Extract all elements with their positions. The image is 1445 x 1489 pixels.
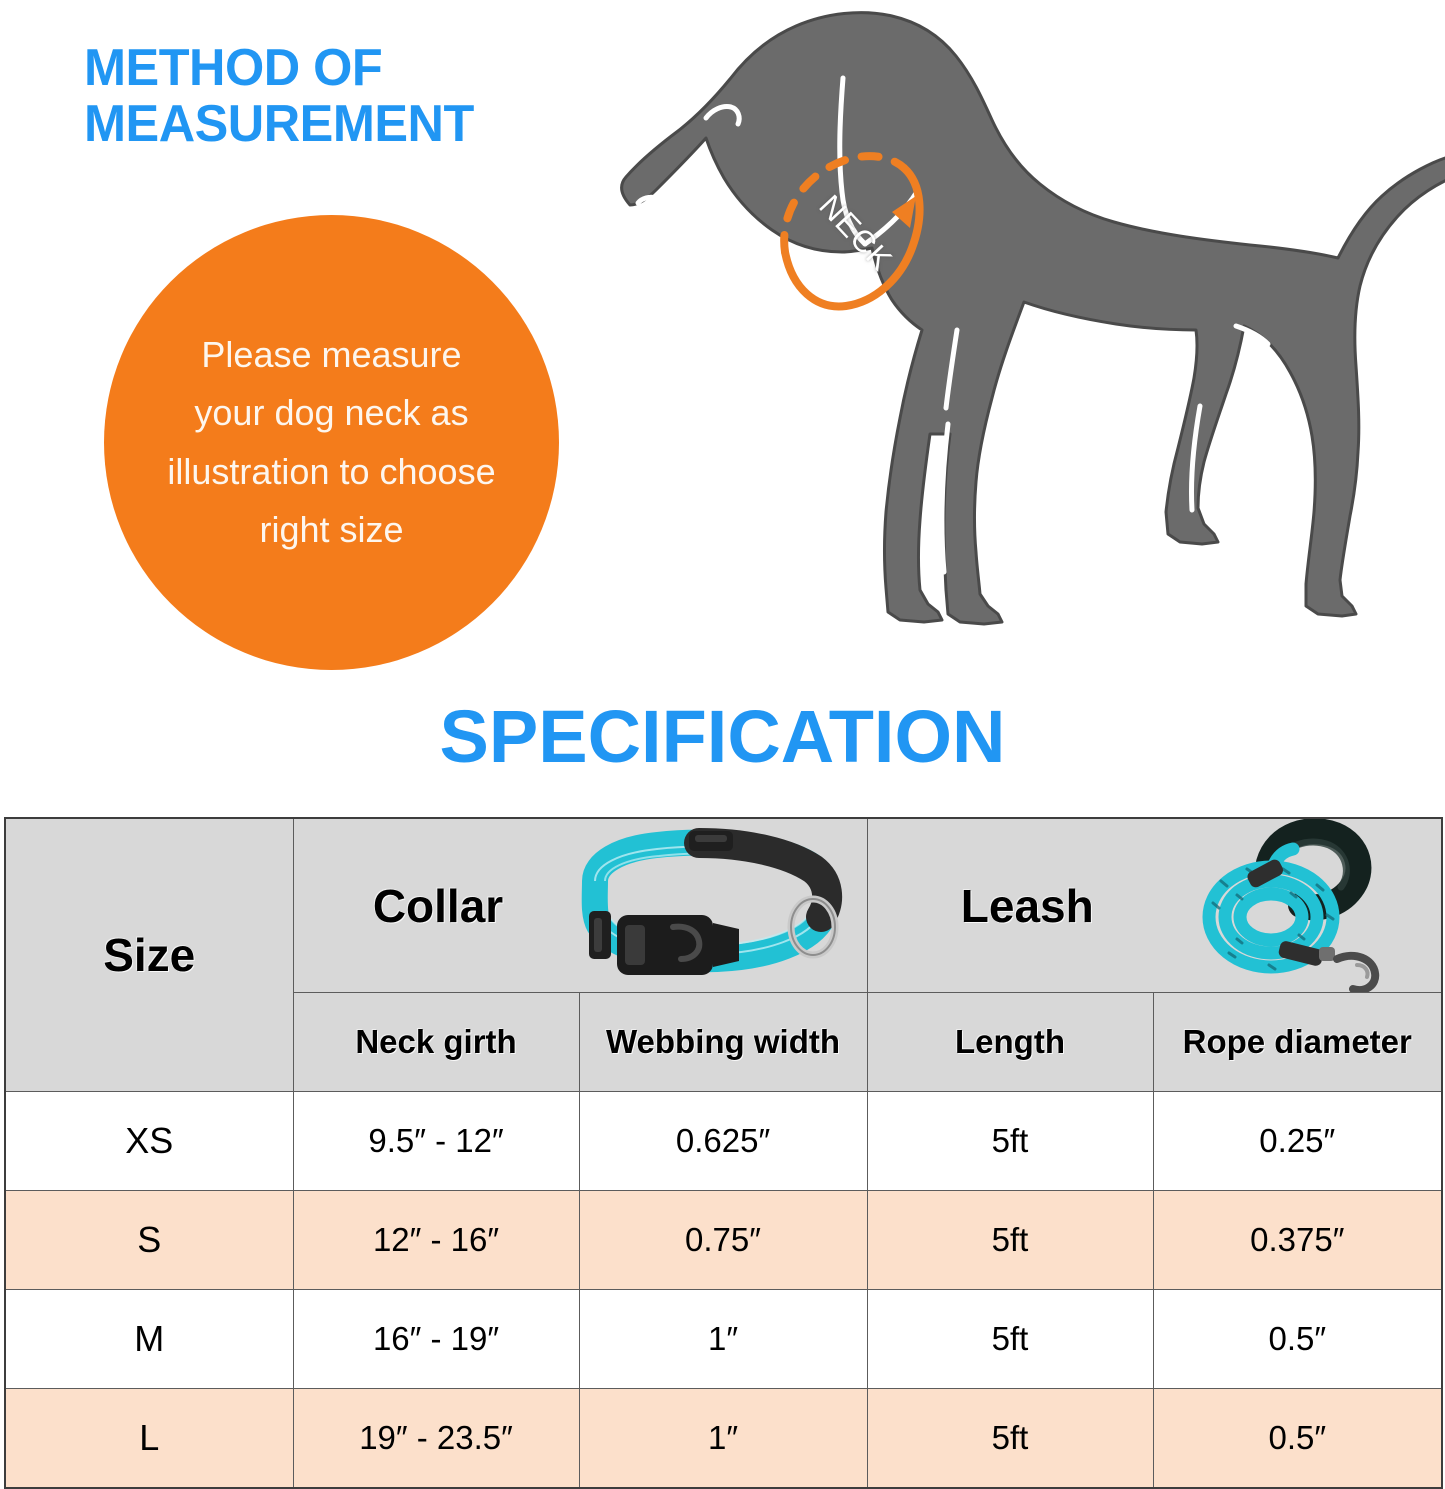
measurement-advice-text: Please measure your dog neck as illustra… — [167, 326, 497, 559]
cell-size: XS — [5, 1092, 293, 1191]
header-label-size: Size — [103, 928, 195, 982]
table-group-header-row: Size Collar — [5, 818, 1442, 993]
specification-table-container: Size Collar — [4, 817, 1441, 1483]
table-row: S 12″ - 16″ 0.75″ 5ft 0.375″ — [5, 1191, 1442, 1290]
cell-neck-girth: 12″ - 16″ — [293, 1191, 579, 1290]
header-cell-size: Size — [5, 818, 293, 1092]
cell-neck-girth: 19″ - 23.5″ — [293, 1389, 579, 1489]
cell-webbing-width: 0.625″ — [579, 1092, 867, 1191]
page-title-line-2: MEASUREMENT — [84, 97, 627, 153]
method-of-measurement-section: METHOD OF MEASUREMENT Please measure you… — [0, 0, 1445, 690]
measurement-advice-badge: Please measure your dog neck as illustra… — [104, 215, 559, 670]
header-cell-collar: Collar — [293, 818, 867, 993]
page-title: METHOD OF MEASUREMENT — [84, 41, 627, 152]
cell-size: S — [5, 1191, 293, 1290]
cell-webbing-width: 0.75″ — [579, 1191, 867, 1290]
header-label-collar: Collar — [373, 879, 503, 933]
header-label-leash: Leash — [961, 879, 1094, 933]
cell-size: L — [5, 1389, 293, 1489]
dog-body-shape — [622, 13, 1445, 624]
table-row: L 19″ - 23.5″ 1″ 5ft 0.5″ — [5, 1389, 1442, 1489]
specification-table: Size Collar — [4, 817, 1443, 1489]
cell-rope-diameter: 0.375″ — [1153, 1191, 1442, 1290]
cell-length: 5ft — [867, 1092, 1153, 1191]
cell-neck-girth: 16″ - 19″ — [293, 1290, 579, 1389]
table-row: M 16″ - 19″ 1″ 5ft 0.5″ — [5, 1290, 1442, 1389]
header-cell-leash: Leash — [867, 818, 1442, 993]
column-header-length: Length — [867, 993, 1153, 1092]
cell-webbing-width: 1″ — [579, 1389, 867, 1489]
table-row: XS 9.5″ - 12″ 0.625″ 5ft 0.25″ — [5, 1092, 1442, 1191]
page-title-line-1: METHOD OF — [84, 41, 627, 97]
column-header-rope-diameter: Rope diameter — [1153, 993, 1442, 1092]
cell-neck-girth: 9.5″ - 12″ — [293, 1092, 579, 1191]
cell-rope-diameter: 0.5″ — [1153, 1290, 1442, 1389]
specification-heading: SPECIFICATION — [0, 694, 1445, 779]
column-header-neck-girth: Neck girth — [293, 993, 579, 1092]
cell-webbing-width: 1″ — [579, 1290, 867, 1389]
column-header-webbing-width: Webbing width — [579, 993, 867, 1092]
dog-silhouette-illustration — [600, 0, 1445, 650]
cell-length: 5ft — [867, 1191, 1153, 1290]
cell-rope-diameter: 0.25″ — [1153, 1092, 1442, 1191]
cell-length: 5ft — [867, 1389, 1153, 1489]
cell-rope-diameter: 0.5″ — [1153, 1389, 1442, 1489]
cell-size: M — [5, 1290, 293, 1389]
cell-length: 5ft — [867, 1290, 1153, 1389]
